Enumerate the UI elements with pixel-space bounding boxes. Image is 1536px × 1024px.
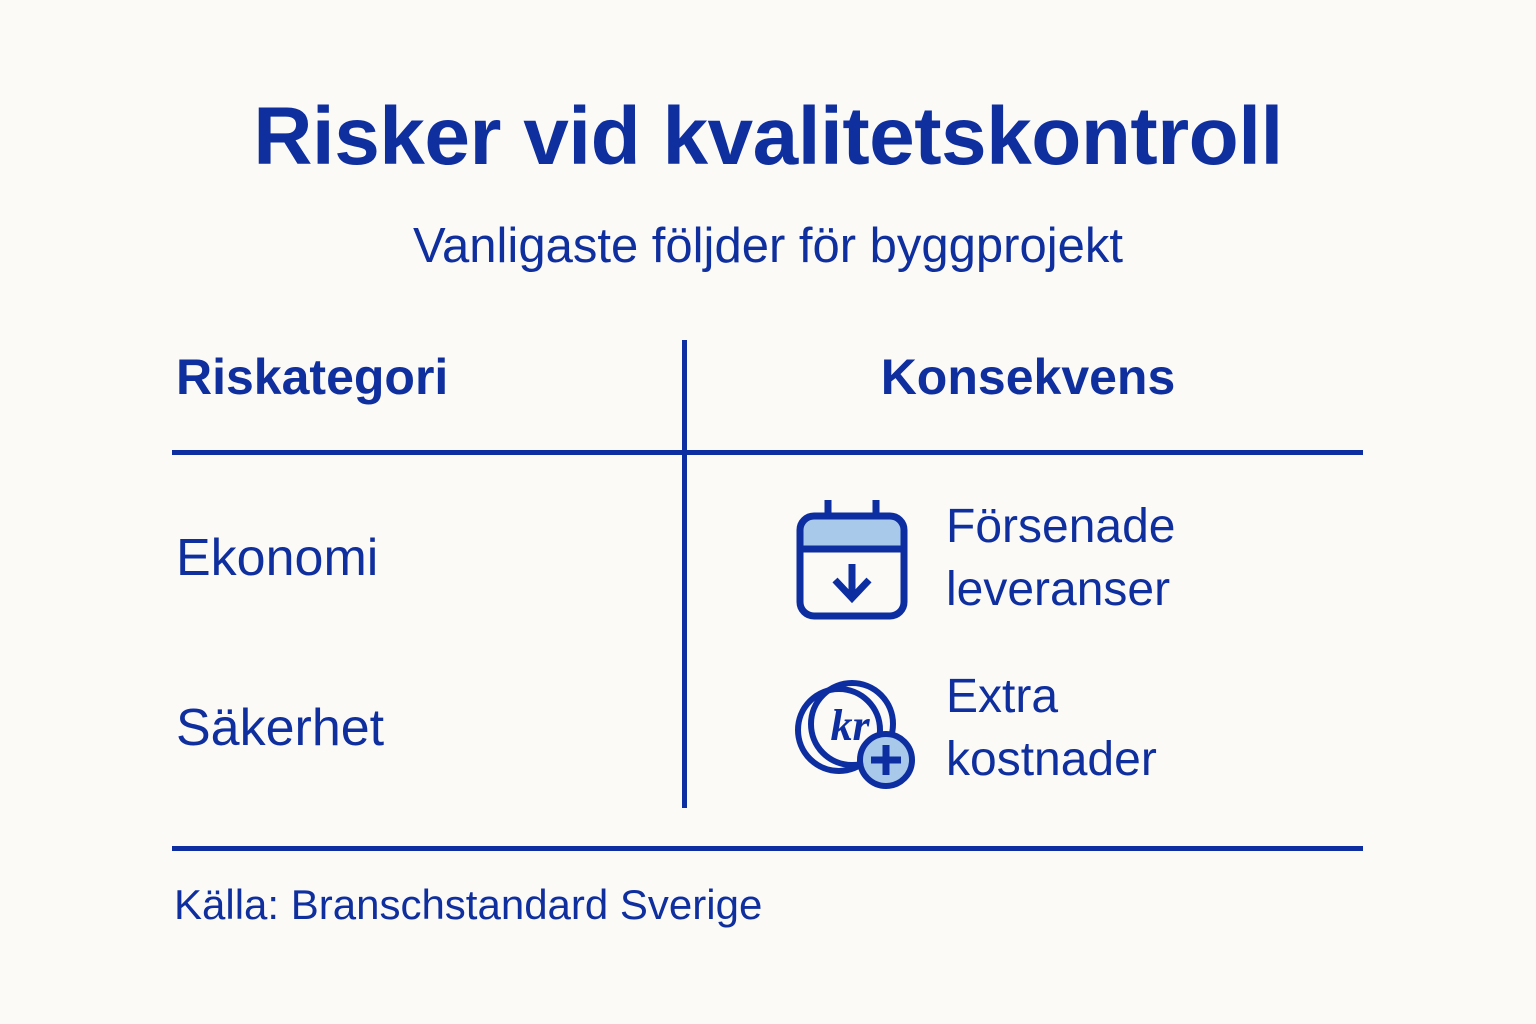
table-row: Ekonomi Försenad	[172, 478, 1367, 638]
cell-consequence: kr Extra kostnader	[780, 648, 1370, 808]
footer-rule	[172, 846, 1363, 851]
column-header-konsekvens: Konsekvens	[683, 352, 1373, 402]
table-row: Säkerhet kr Extra kostnader	[172, 648, 1367, 808]
page-subtitle: Vanligaste följder för byggprojekt	[0, 222, 1536, 271]
infographic-poster: Risker vid kvalitetskontroll Vanligaste …	[0, 0, 1536, 1024]
consequence-line-2: leveranser	[946, 558, 1175, 621]
consequence-line-2: kostnader	[946, 728, 1157, 791]
consequence-line-1: Extra	[946, 665, 1157, 728]
page-title: Risker vid kvalitetskontroll	[0, 96, 1536, 178]
column-header-riskategori: Riskategori	[176, 352, 448, 402]
consequence-text: Extra kostnader	[946, 665, 1157, 792]
calendar-arrow-down-icon	[780, 488, 920, 628]
consequence-text: Försenade leveranser	[946, 495, 1175, 622]
cell-category: Ekonomi	[176, 478, 676, 638]
source-note: Källa: Branschstandard Sverige	[174, 884, 762, 926]
cell-category: Säkerhet	[176, 648, 676, 808]
krona-coin-plus-icon: kr	[780, 658, 920, 798]
header-rule	[172, 450, 1363, 455]
consequence-line-1: Försenade	[946, 495, 1175, 558]
cell-consequence: Försenade leveranser	[780, 478, 1370, 638]
